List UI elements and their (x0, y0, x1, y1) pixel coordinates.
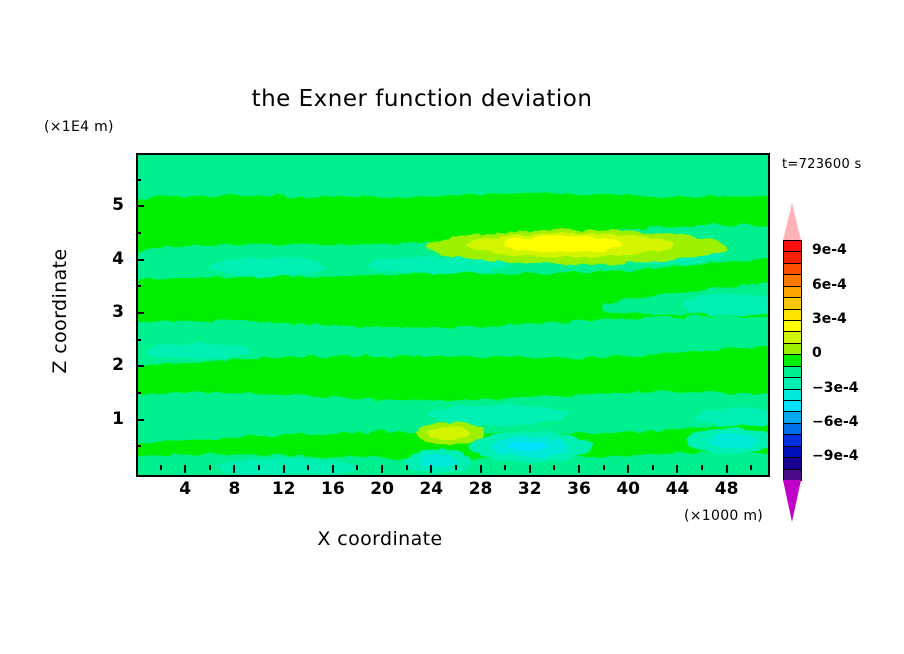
x-axis-tick (184, 465, 186, 473)
x-axis-tick (676, 465, 678, 473)
colorbar-tick-label: −3e-4 (812, 380, 859, 396)
x-axis-tick (480, 465, 482, 473)
x-axis-tick-label: 24 (411, 479, 451, 499)
y-axis-tick (136, 392, 141, 394)
x-axis-tick (553, 465, 555, 470)
colorbar-tick-label: −6e-4 (812, 414, 859, 430)
contour-plot-area (136, 153, 770, 477)
x-axis-tick-label: 16 (313, 479, 353, 499)
y-axis-tick (136, 259, 144, 261)
x-axis-tick (750, 465, 752, 470)
x-axis-tick (430, 465, 432, 473)
x-axis-unit-label: (×1000 m) (684, 508, 763, 524)
y-axis-tick (136, 232, 141, 234)
x-axis-tick (529, 465, 531, 473)
x-axis-tick-label: 44 (657, 479, 697, 499)
x-axis-tick (652, 465, 654, 470)
colorbar-tick-label: 6e-4 (812, 277, 847, 293)
x-axis-tick-label: 36 (559, 479, 599, 499)
y-axis-tick (136, 339, 141, 341)
x-axis-tick (603, 465, 605, 470)
contour-field (138, 155, 768, 475)
y-axis-tick (136, 205, 144, 207)
colorbar-tick-label: 3e-4 (812, 311, 847, 327)
x-axis-tick-label: 48 (707, 479, 747, 499)
y-axis-tick-label: 5 (98, 195, 124, 215)
y-axis-tick (136, 445, 141, 447)
timestamp-annotation: t=723600 s (782, 157, 862, 172)
page-title: the Exner function deviation (0, 86, 904, 112)
x-axis-tick (307, 465, 309, 470)
x-axis-tick (332, 465, 334, 473)
colorbar[interactable] (783, 203, 803, 523)
x-axis-tick (578, 465, 580, 473)
y-axis-tick (136, 312, 144, 314)
x-axis-tick (258, 465, 260, 470)
x-axis-tick (233, 465, 235, 473)
colorbar-over-arrow-icon (783, 203, 801, 240)
x-axis-tick (726, 465, 728, 473)
title-text: the Exner function deviation (252, 86, 593, 112)
x-axis-tick-label: 28 (461, 479, 501, 499)
x-axis-tick (504, 465, 506, 470)
x-axis-tick (627, 465, 629, 473)
y-axis-tick-label: 3 (98, 302, 124, 322)
colorbar-under-arrow-icon (783, 480, 801, 522)
x-axis-title: X coordinate (0, 528, 760, 550)
x-axis-tick-label: 12 (264, 479, 304, 499)
x-axis-tick (356, 465, 358, 470)
y-axis-tick-label: 1 (98, 409, 124, 429)
x-axis-tick-label: 20 (362, 479, 402, 499)
x-axis-tick (381, 465, 383, 473)
x-axis-tick (209, 465, 211, 470)
y-axis-tick-label: 2 (98, 355, 124, 375)
y-axis-tick (136, 285, 141, 287)
x-axis-tick (283, 465, 285, 473)
x-axis-tick-label: 32 (510, 479, 550, 499)
x-axis-tick-label: 4 (165, 479, 205, 499)
y-axis-tick (136, 419, 144, 421)
colorbar-tick-label: 0 (812, 345, 822, 361)
x-axis-tick (160, 465, 162, 470)
x-axis-tick (455, 465, 457, 470)
x-axis-tick (701, 465, 703, 470)
x-axis-tick-label: 8 (214, 479, 254, 499)
y-axis-tick (136, 179, 141, 181)
y-axis-unit-label: (×1E4 m) (44, 119, 114, 135)
y-axis-tick-label: 4 (98, 249, 124, 269)
colorbar-tick-label: −9e-4 (812, 448, 859, 464)
x-axis-tick (406, 465, 408, 470)
y-axis-title: Z coordinate (49, 211, 71, 411)
colorbar-tick-label: 9e-4 (812, 242, 847, 258)
x-axis-tick-label: 40 (608, 479, 648, 499)
y-axis-tick (136, 365, 144, 367)
